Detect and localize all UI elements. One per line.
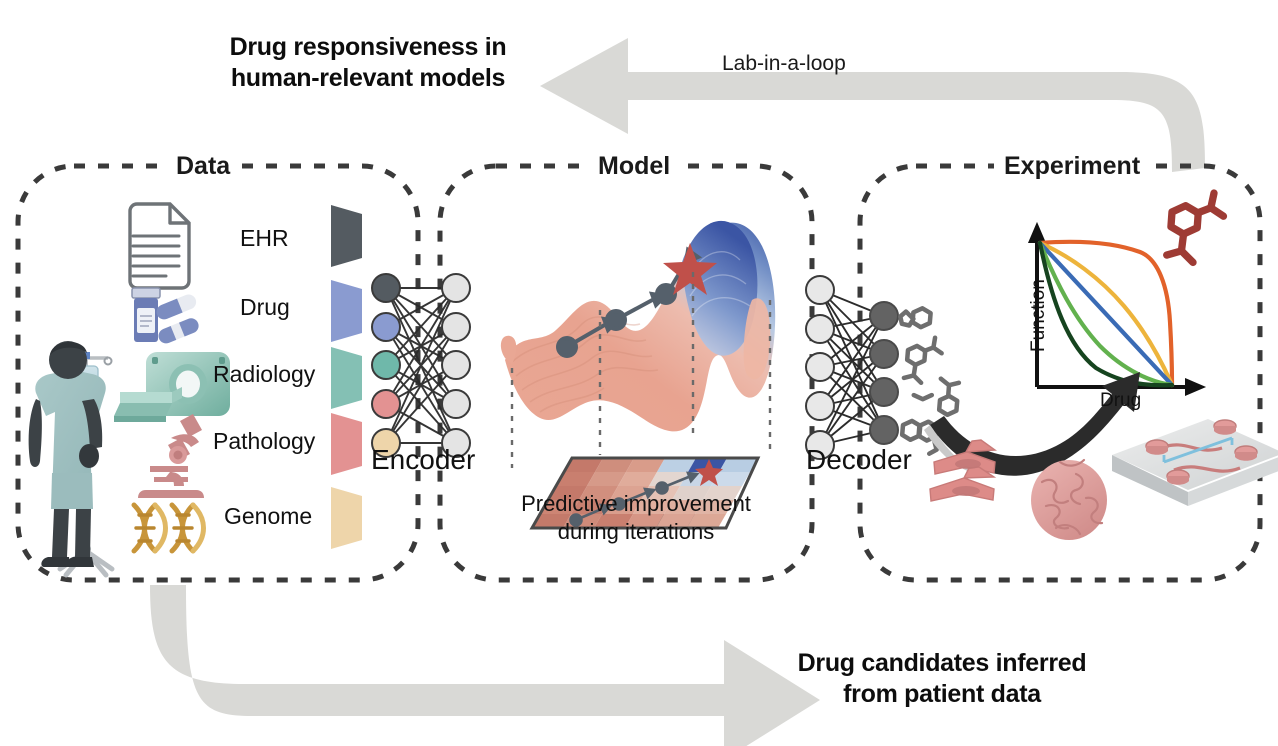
modality-label-drug: Drug — [240, 294, 290, 321]
lab-in-a-loop-label: Lab-in-a-loop — [722, 52, 846, 76]
modality-label-genome: Genome — [224, 503, 312, 530]
bottom-callout-text: Drug candidates inferred from patient da… — [756, 648, 1128, 709]
decoder-label: Decoder — [806, 444, 912, 476]
loss-landscape-surface — [501, 221, 775, 431]
lead-molecule-icon — [1167, 193, 1224, 262]
panel-title-data: Data — [166, 152, 240, 181]
document-icon — [130, 204, 189, 288]
patient-iv-stand-icon — [29, 341, 112, 575]
microscope-icon — [138, 414, 204, 498]
modality-label-radiology: Radiology — [213, 361, 315, 388]
dna-helix-icon — [134, 505, 204, 551]
diagram-vector-layer — [0, 0, 1278, 746]
modality-arrow-drug — [331, 280, 362, 342]
encoder-label: Encoder — [371, 444, 475, 476]
chart-xlabel: Drug — [1100, 390, 1141, 412]
panel-title-model: Model — [588, 152, 680, 181]
capsule-icon — [154, 292, 201, 345]
modality-arrow-pathology — [331, 413, 362, 475]
modality-label-pathology: Pathology — [213, 428, 315, 455]
modality-arrow-genome — [331, 487, 362, 549]
top-callout-text: Drug responsiveness in human-relevant mo… — [198, 32, 538, 93]
modality-label-ehr: EHR — [240, 225, 289, 252]
dose-response-curves — [1040, 242, 1172, 385]
figure-canvas: Drug responsiveness in human-relevant mo… — [0, 0, 1278, 746]
modality-arrow-radiology — [331, 347, 362, 409]
modality-arrow-ehr — [331, 205, 362, 267]
brain-organoid-icon — [1031, 460, 1107, 540]
chart-ylabel: Function — [1028, 279, 1050, 352]
decoder-network — [806, 276, 898, 459]
pill-bottle-icon — [132, 288, 201, 346]
organ-on-chip-icon — [1112, 419, 1278, 506]
model-caption: Predictive improvement during iterations — [486, 490, 786, 545]
panel-title-experiment: Experiment — [994, 152, 1150, 181]
encoder-network — [372, 274, 470, 457]
drug-candidates-arrow — [150, 585, 820, 746]
